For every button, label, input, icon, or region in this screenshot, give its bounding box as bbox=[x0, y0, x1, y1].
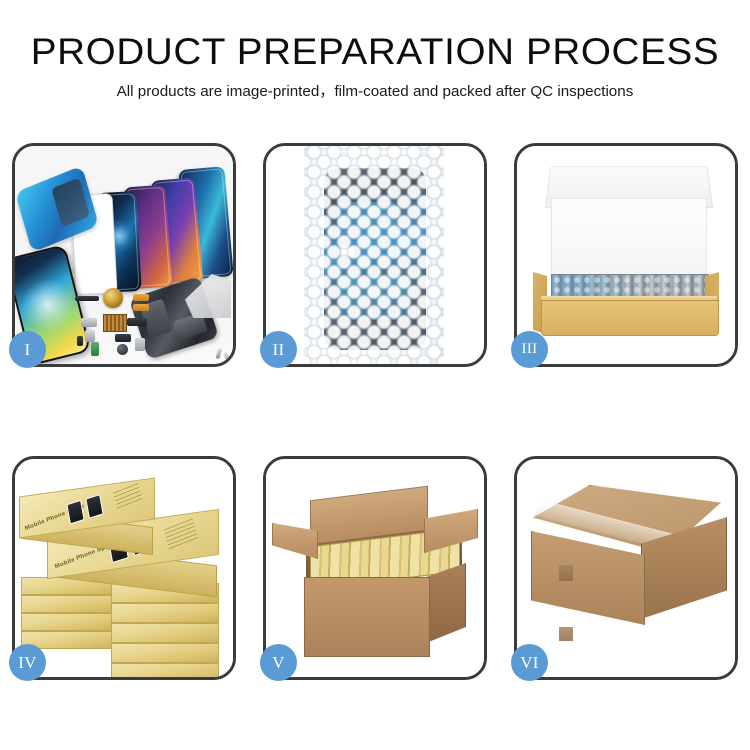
flex-cable-icon bbox=[133, 294, 149, 301]
connector-icon bbox=[127, 318, 147, 326]
connector-icon bbox=[115, 334, 131, 342]
bubble-texture-overlay bbox=[304, 146, 444, 364]
process-step-panel-5[interactable]: V bbox=[263, 456, 487, 680]
spec-list-lines bbox=[113, 483, 143, 511]
process-step-panel-4[interactable]: Mobile Phone Spare Parts Mobile Phone Sp… bbox=[12, 456, 236, 680]
step-3-image bbox=[517, 146, 735, 364]
carton-tab-icon bbox=[559, 627, 573, 641]
camera-module-icon bbox=[135, 338, 145, 351]
process-step-panel-2[interactable]: II bbox=[263, 143, 487, 367]
process-step-panel-3[interactable]: III bbox=[514, 143, 738, 367]
spec-list-lines bbox=[164, 518, 198, 550]
flex-cable-icon bbox=[133, 304, 149, 311]
step-1-image bbox=[15, 146, 233, 364]
retail-box-icon bbox=[111, 663, 219, 677]
step-5-image bbox=[266, 459, 484, 677]
process-step-grid: I II III bbox=[12, 143, 738, 680]
carton-side-panel-icon bbox=[426, 563, 466, 643]
page-title: PRODUCT PREPARATION PROCESS bbox=[0, 32, 750, 71]
retail-box-icon bbox=[21, 595, 115, 613]
retail-box-icon bbox=[111, 623, 219, 643]
small-component-icon bbox=[77, 336, 83, 346]
metal-bracket-icon bbox=[81, 318, 97, 327]
mailer-front-panel-icon bbox=[541, 300, 719, 336]
earpiece-mesh-icon bbox=[75, 296, 99, 301]
white-foam-padding-icon bbox=[551, 198, 707, 278]
step-badge-3: III bbox=[511, 331, 548, 368]
metal-bracket-icon bbox=[85, 330, 95, 342]
battery-cell-icon bbox=[91, 342, 99, 356]
speaker-coil-icon bbox=[103, 288, 123, 308]
carton-front-panel-icon bbox=[304, 577, 430, 657]
process-step-panel-6[interactable]: VI bbox=[514, 456, 738, 680]
step-badge-5: V bbox=[260, 644, 297, 681]
page-subtitle: All products are image-printed，film-coat… bbox=[0, 83, 750, 101]
step-2-image bbox=[266, 146, 484, 364]
vibration-motor-icon bbox=[117, 344, 128, 355]
page-header: PRODUCT PREPARATION PROCESS All products… bbox=[0, 0, 750, 125]
step-4-image: Mobile Phone Spare Parts Mobile Phone Sp… bbox=[15, 459, 233, 677]
step-6-image bbox=[517, 459, 735, 677]
retail-box-icon bbox=[111, 643, 219, 663]
process-step-panel-1[interactable]: I bbox=[12, 143, 236, 367]
retail-box-icon bbox=[21, 613, 115, 631]
carton-front-panel-icon bbox=[531, 531, 645, 625]
step-badge-2: II bbox=[260, 331, 297, 368]
product-preparation-process-page: PRODUCT PREPARATION PROCESS All products… bbox=[0, 0, 750, 750]
step-badge-1: I bbox=[9, 331, 46, 368]
retail-box-icon bbox=[111, 603, 219, 623]
step-badge-4: IV bbox=[9, 644, 46, 681]
step-badge-6: VI bbox=[511, 644, 548, 681]
carton-tab-icon bbox=[559, 565, 573, 581]
ic-chip-icon bbox=[103, 314, 127, 332]
